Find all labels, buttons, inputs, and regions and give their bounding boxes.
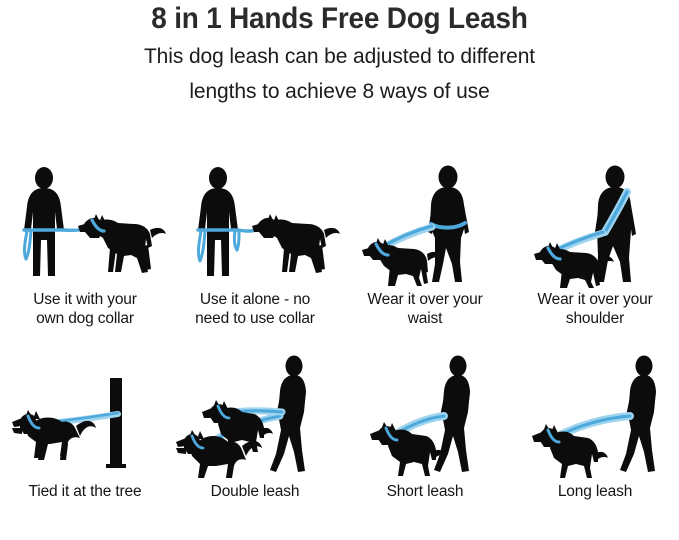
subtitle-line-1: This dog leash can be adjusted to differ… [0, 36, 679, 71]
panel-5-caption: Tied it at the tree [0, 482, 170, 501]
panel-3-caption-line-2: waist [408, 310, 443, 327]
illustration-wear-over-shoulder [510, 160, 679, 288]
subtitle-line-2: lengths to achieve 8 ways of use [0, 71, 679, 106]
panel-8: Long leash [510, 350, 679, 540]
panel-8-caption-line-1: Long leash [558, 483, 632, 500]
panel-2-caption-line-1: Use it alone - no [200, 291, 310, 308]
page-title: 8 in 1 Hands Free Dog Leash [24, 0, 655, 36]
panel-3-caption-line-1: Wear it over your [367, 291, 482, 308]
panel-5: Tied it at the tree [0, 350, 170, 540]
panel-1-caption-line-2: own dog collar [36, 310, 134, 327]
panel-grid: Use it with your own dog collar [0, 160, 679, 540]
infographic-page: 8 in 1 Hands Free Dog Leash This dog lea… [0, 0, 679, 520]
panel-row-bottom: Tied it at the tree [0, 350, 679, 540]
panel-3-caption: Wear it over your waist [340, 290, 510, 328]
panel-2-caption-line-2: need to use collar [195, 310, 315, 327]
panel-6-caption: Double leash [170, 482, 340, 501]
illustration-tied-at-tree [0, 350, 170, 478]
illustration-use-alone-no-collar [170, 160, 340, 288]
illustration-double-leash [170, 350, 340, 478]
illustration-use-with-own-collar [0, 160, 170, 288]
illustration-short-leash [340, 350, 510, 478]
panel-2-caption: Use it alone - no need to use collar [170, 290, 340, 328]
panel-8-caption: Long leash [510, 482, 679, 501]
illustration-long-leash [510, 350, 679, 478]
panel-7: Short leash [340, 350, 510, 540]
panel-7-caption-line-1: Short leash [387, 483, 464, 500]
illustration-wear-over-waist [340, 160, 510, 288]
panel-1-caption: Use it with your own dog collar [0, 290, 170, 328]
panel-5-caption-line-1: Tied it at the tree [29, 483, 142, 500]
panel-2: Use it alone - no need to use collar [170, 160, 340, 350]
panel-1-caption-line-1: Use it with your [33, 291, 137, 308]
panel-6: Double leash [170, 350, 340, 540]
panel-1: Use it with your own dog collar [0, 160, 170, 350]
panel-4-caption-line-1: Wear it over your [537, 291, 652, 308]
header: 8 in 1 Hands Free Dog Leash This dog lea… [0, 0, 679, 106]
panel-4-caption-line-2: shoulder [566, 310, 624, 327]
panel-row-top: Use it with your own dog collar [0, 160, 679, 350]
panel-7-caption: Short leash [340, 482, 510, 501]
panel-4-caption: Wear it over your shoulder [510, 290, 679, 328]
panel-4: Wear it over your shoulder [510, 160, 679, 350]
panel-6-caption-line-1: Double leash [211, 483, 300, 500]
panel-3: Wear it over your waist [340, 160, 510, 350]
